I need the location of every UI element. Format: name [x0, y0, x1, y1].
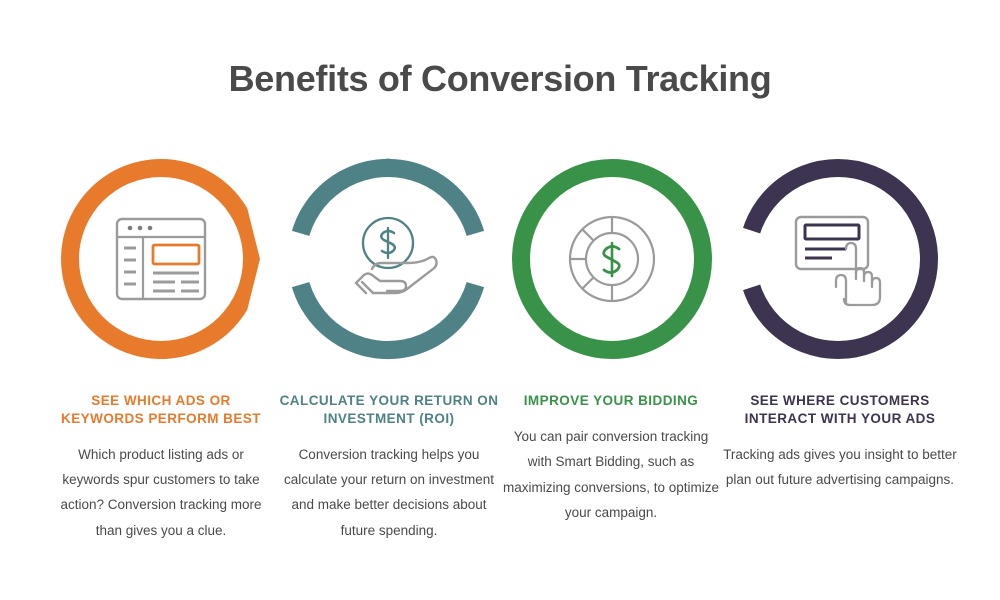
benefit-column-calculate-roi: CALCULATE YOUR RETURN ON INVESTMENT (ROI…: [278, 392, 500, 543]
benefit-body-improve-bidding: You can pair conversion tracking with Sm…: [500, 424, 722, 526]
benefit-heading-calculate-roi: CALCULATE YOUR RETURN ON INVESTMENT (ROI…: [278, 392, 500, 428]
benefit-body-see-which-ads: Which product listing ads or keywords sp…: [50, 442, 272, 544]
benefit-text-row: SEE WHICH ADS OR KEYWORDS PERFORM BEST W…: [0, 392, 1000, 552]
benefit-heading-see-which-ads: SEE WHICH ADS OR KEYWORDS PERFORM BEST: [50, 392, 272, 428]
benefit-ring-see-which-ads: [45, 143, 277, 375]
ad-card-click-hand-icon: [783, 204, 893, 314]
benefit-ring-calculate-roi: [272, 143, 504, 375]
donut-chart-dollar-icon: [557, 204, 667, 314]
infographic-canvas: Benefits of Conversion Tracking: [0, 0, 1000, 600]
benefit-column-improve-bidding: IMPROVE YOUR BIDDING You can pair conver…: [500, 392, 722, 525]
page-title: Benefits of Conversion Tracking: [0, 58, 1000, 100]
benefit-column-see-which-ads: SEE WHICH ADS OR KEYWORDS PERFORM BEST W…: [50, 392, 272, 543]
benefit-heading-improve-bidding: IMPROVE YOUR BIDDING: [500, 392, 722, 410]
benefit-column-customer-interaction: SEE WHERE CUSTOMERS INTERACT WITH YOUR A…: [722, 392, 958, 492]
benefit-ring-customer-interaction: [722, 143, 954, 375]
browser-ad-window-icon: [106, 204, 216, 314]
hand-holding-coin-icon: [333, 204, 443, 314]
benefit-rings-row: [0, 143, 1000, 375]
benefit-ring-improve-bidding: [496, 143, 728, 375]
benefit-body-calculate-roi: Conversion tracking helps you calculate …: [278, 442, 500, 544]
benefit-heading-customer-interaction: SEE WHERE CUSTOMERS INTERACT WITH YOUR A…: [722, 392, 958, 428]
benefit-body-customer-interaction: Tracking ads gives you insight to better…: [722, 442, 958, 493]
